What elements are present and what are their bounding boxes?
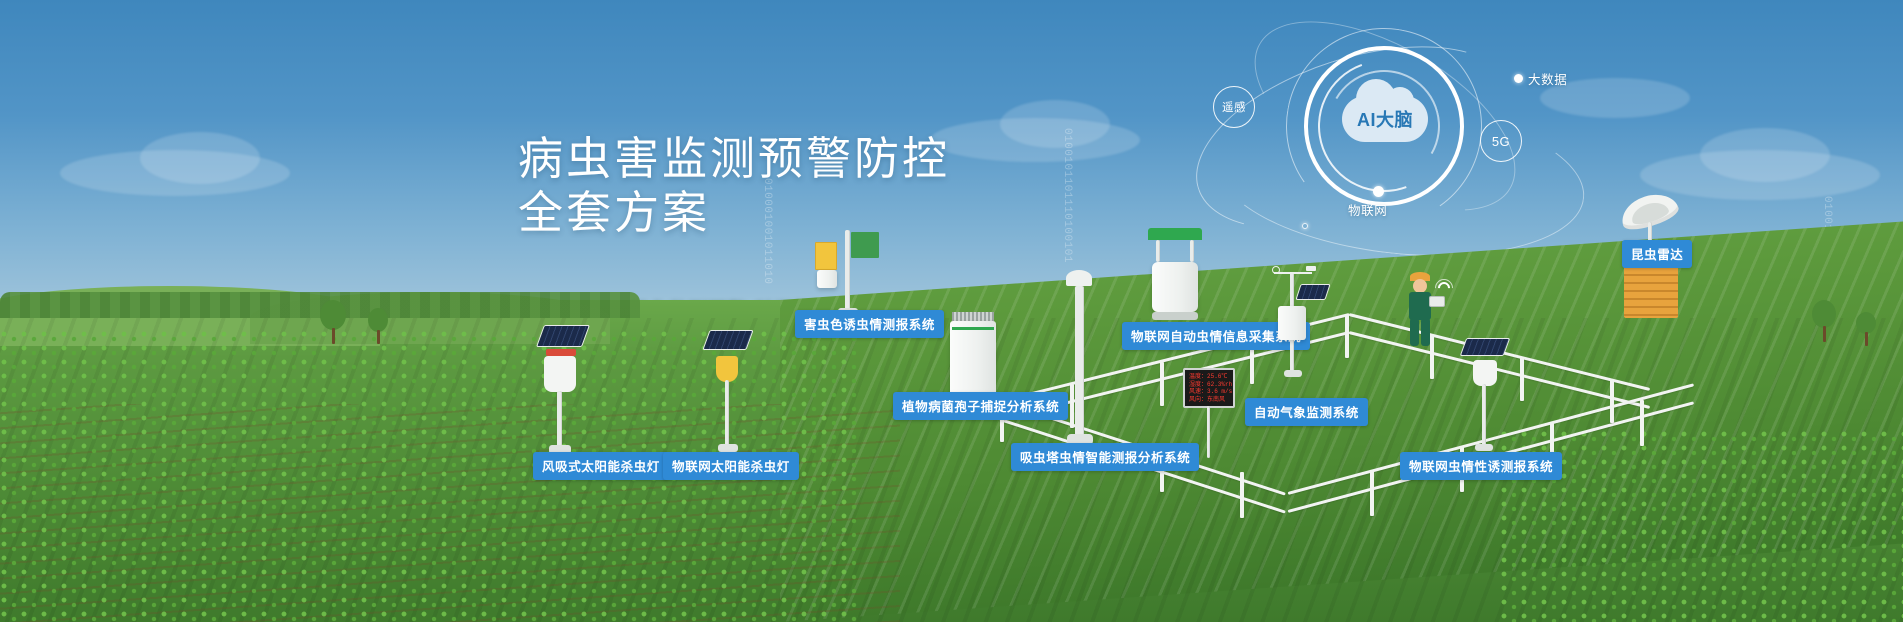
page-title: 病虫害监测预警防控 全套方案 bbox=[518, 132, 998, 240]
node-dot-icon bbox=[1514, 74, 1523, 83]
led-board-pole bbox=[1207, 406, 1210, 458]
cloud-shape bbox=[1700, 128, 1830, 182]
controller-box bbox=[817, 270, 837, 288]
solar-panel-icon bbox=[702, 330, 753, 350]
device-wind-suction-solar-insect-lamp[interactable] bbox=[530, 325, 600, 455]
device-plant-pathogen-spore-capture-analysis-system[interactable] bbox=[948, 312, 998, 404]
analysis-cabinet bbox=[950, 321, 996, 399]
device-iot-auto-pest-info-collection-system[interactable] bbox=[1138, 228, 1214, 324]
accent-strip bbox=[952, 327, 994, 330]
device-label-suction-tower-pest-forecast-analysis-system[interactable]: 吸虫塔虫情智能测报分析系统 bbox=[1011, 443, 1199, 471]
binary-stream: 0100101101110100101 bbox=[1060, 128, 1073, 293]
illustration-banner: 010001001011010 0100101101110100101 0100… bbox=[0, 0, 1903, 622]
led-line-humidity: 湿度：62.3%rh bbox=[1189, 381, 1229, 389]
wind-vane-icon bbox=[1306, 266, 1316, 271]
device-label-insect-radar[interactable]: 昆虫雷达 bbox=[1622, 240, 1692, 268]
solar-panel-icon bbox=[1460, 338, 1511, 356]
support-pole bbox=[845, 230, 850, 310]
title-line-1: 病虫害监测预警防控 bbox=[518, 132, 998, 186]
device-iot-pest-pheromone-lure-forecast-system[interactable] bbox=[1455, 338, 1517, 454]
collector-cabinet bbox=[1152, 262, 1198, 312]
farmer-head bbox=[1413, 279, 1427, 293]
node-label-big-data: 大数据 bbox=[1528, 69, 1567, 88]
support-pole bbox=[1482, 384, 1486, 446]
farmer-leg bbox=[1421, 318, 1430, 346]
led-line-wind-direction: 风向：东南风 bbox=[1189, 396, 1229, 404]
tablet-icon bbox=[1429, 296, 1445, 307]
node-badge-5g[interactable]: 5G bbox=[1480, 120, 1522, 162]
title-line-2: 全套方案 bbox=[518, 186, 998, 240]
tower-hood bbox=[1066, 270, 1092, 286]
device-label-iot-solar-insect-lamp[interactable]: 物联网太阳能杀虫灯 bbox=[663, 452, 799, 480]
support-strut bbox=[1156, 240, 1160, 262]
lure-trap-housing bbox=[1473, 360, 1497, 386]
tower-column bbox=[1075, 286, 1084, 436]
solar-board bbox=[851, 232, 879, 258]
solar-panel-icon bbox=[536, 325, 590, 347]
farmer-figure bbox=[1396, 272, 1452, 348]
device-label-color-lure-pest-forecast-system[interactable]: 害虫色诱虫情测报系统 bbox=[795, 310, 944, 338]
device-iot-solar-insect-lamp[interactable] bbox=[700, 330, 762, 452]
node-badge-remote-sensing[interactable]: 遥感 bbox=[1213, 86, 1255, 128]
device-label-plant-pathogen-spore-capture-analysis-system[interactable]: 植物病菌孢子捕捉分析系统 bbox=[893, 392, 1068, 420]
crossarm bbox=[1274, 272, 1312, 274]
pole-base bbox=[718, 444, 738, 452]
led-line-wind-speed: 风速：3.6 m/s bbox=[1189, 388, 1229, 396]
ai-brain-label: AI大脑 bbox=[1357, 106, 1413, 132]
solar-panel-icon bbox=[1295, 284, 1330, 300]
device-label-auto-weather-monitoring-system[interactable]: 自动气象监测系统 bbox=[1245, 398, 1368, 426]
farmer-torso bbox=[1409, 292, 1431, 320]
led-display-board: 温度：25.6℃ 湿度：62.3%rh 风速：3.6 m/s 风向：东南风 bbox=[1183, 368, 1235, 408]
device-label-iot-pest-pheromone-lure-forecast-system[interactable]: 物联网虫情性诱测报系统 bbox=[1400, 452, 1562, 480]
node-dot-icon bbox=[1373, 186, 1384, 197]
pole-base bbox=[1284, 370, 1302, 377]
device-label-wind-suction-solar-insect-lamp[interactable]: 风吸式太阳能杀虫灯 bbox=[533, 452, 669, 480]
cloud-shape bbox=[140, 132, 260, 184]
device-auto-weather-monitoring-system[interactable] bbox=[1262, 266, 1332, 386]
device-suction-tower-pest-forecast-analysis-system[interactable] bbox=[1060, 270, 1100, 455]
support-pole bbox=[557, 391, 562, 447]
cabinet-base bbox=[1152, 312, 1198, 320]
support-pole bbox=[725, 380, 729, 446]
anemometer-icon bbox=[1272, 266, 1280, 274]
lamp-housing bbox=[544, 356, 576, 392]
node-label-iot: 物联网 bbox=[1348, 200, 1387, 219]
device-color-lure-pest-forecast-system[interactable] bbox=[805, 222, 885, 312]
pole-base bbox=[1475, 444, 1493, 451]
collector-canopy bbox=[1148, 228, 1202, 240]
sticky-trap-board bbox=[815, 242, 837, 270]
cloud-shape bbox=[1000, 100, 1110, 148]
node-dot-icon bbox=[1302, 223, 1308, 229]
farmer-leg bbox=[1410, 318, 1419, 346]
led-line-temperature: 温度：25.6℃ bbox=[1189, 373, 1229, 381]
ai-cloud-icon: AI大脑 bbox=[1342, 96, 1428, 142]
lamp-indicator bbox=[546, 349, 576, 356]
lamp-housing bbox=[716, 356, 738, 382]
vent-grille bbox=[952, 312, 994, 321]
weather-datalogger-box bbox=[1278, 306, 1306, 340]
support-strut bbox=[1190, 240, 1194, 262]
